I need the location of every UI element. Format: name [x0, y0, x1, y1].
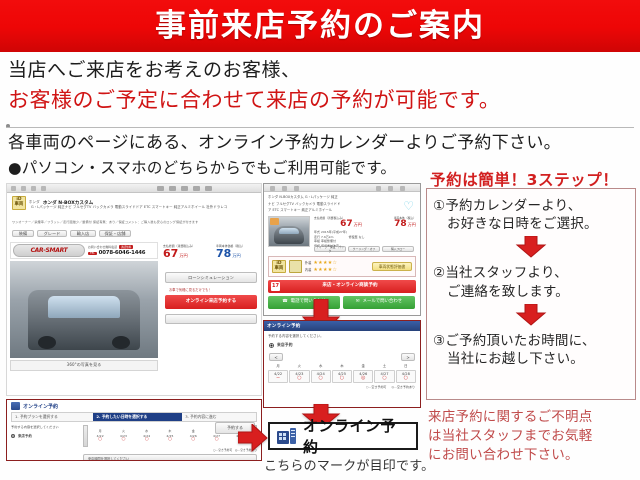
arrow-right-to-badge: [238, 424, 268, 452]
car-wheel-front: [38, 336, 56, 349]
pc-loan-simulation-label: ローンシミュレーション: [188, 275, 234, 281]
pc-photo-button-label: 360°の写真を見る: [67, 362, 102, 368]
pc-car-photo: [10, 261, 158, 358]
calendar-day-cell-4[interactable]: 4/26 ◎: [353, 370, 373, 383]
id-badge-icon: iD車両: [12, 196, 26, 210]
sp-chip-row: ディーラー保証・パック クーリング・オフ 購入フロー: [314, 246, 414, 252]
sp-price-area: 支払総額（消費税込み） 67 万円 車両本体（税込） 78 万円 年式: [314, 216, 416, 248]
calendar-weekday-4: 金: [353, 364, 373, 369]
step-3-line-2: 当社にお越し下さい。: [433, 350, 629, 368]
mobile-calendar-panel: オンライン予約 予約する内容を選択してください。 来店予約 < > 月 火 水 …: [263, 320, 421, 408]
three-steps-box: ①予約カレンダーより、 お好きな日時をご選択。 ②当社スタッフより、 ご連絡を致…: [426, 188, 636, 400]
calendar-radio-row[interactable]: 来店予約: [269, 342, 420, 348]
sp-chrome-icon-4: [376, 186, 381, 191]
step-2-text-1: 当社スタッフより、: [445, 265, 568, 281]
sp-spec-label-1b: 修復歴: [349, 235, 358, 239]
sp-car-window-shape: [279, 228, 298, 234]
sp-rating-outside-stars: ★★★★☆: [313, 260, 337, 266]
pc-secondary-button[interactable]: [165, 314, 257, 324]
sp-spec-value-1b: なし: [359, 235, 365, 239]
pc-phone-label: お問い合わせ無料電話: [88, 245, 117, 249]
sp-price-sub-value: 78: [394, 220, 407, 229]
page-title: 事前来店予約のご案内: [155, 11, 485, 42]
pc-price-sub-value: 78: [216, 248, 231, 259]
calendar-instruction: 予約する内容を選択してください。: [268, 334, 420, 339]
sp-rating-report-label: 車両状態評価書: [379, 264, 406, 270]
wizard-left-col: 予約する内容を選択してください 来店予約: [11, 425, 79, 461]
chrome-icon-4: [41, 186, 46, 191]
wizard-time-select[interactable]: 来店時間を選択してください: [83, 454, 257, 461]
sp-mail-label: メールで問い合わせ: [363, 300, 403, 304]
sp-rating-inside-stars: ★★★★☆: [313, 267, 337, 273]
sp-chrome-icon-1: [270, 186, 275, 191]
step-arrow-2: [433, 304, 629, 330]
intro-line-1: 当店へご来店をお考えのお客様、: [8, 58, 632, 84]
pc-reserve-lead: お車で気軽に見るだけでも！: [169, 288, 212, 293]
pc-price-sub-unit: 万円: [232, 253, 240, 259]
radio-selected-icon[interactable]: [269, 343, 274, 348]
three-step-caption: 予約は簡単！3ステップ！: [430, 168, 619, 190]
dealer-logo: CAR-SMART: [13, 244, 85, 257]
contact-note: 来店予約に関するご不明点 は当社スタッフまでお気軽 にお問い合わせ下さい。: [428, 408, 638, 465]
reservation-guide-page: 事前来店予約のご案内 当店へご来店をお考えのお客様、 お客様のご予定に合わせて来…: [0, 0, 640, 480]
step-1-line-2: お好きな日時をご選択。: [433, 215, 629, 233]
sp-car-title: ホンダ N-BOXカスタム G・Lパッケージ 純正: [268, 195, 380, 200]
calendar-day-cell-5[interactable]: 4/27 ○: [374, 370, 394, 383]
step-3-number: ③: [433, 333, 445, 349]
sp-price-main-value: 67: [340, 220, 353, 229]
sp-price-sub-block: 車両本体（税込） 78 万円: [368, 216, 416, 229]
calendar-avail-1: ○: [290, 376, 308, 381]
calendar-weekday-6: 日: [396, 364, 416, 369]
divider-rule: [6, 127, 634, 128]
sp-car-subtitle-2: ア ETC スマートキー 純正アルミホイール: [268, 208, 380, 213]
step-2-number: ②: [433, 265, 445, 281]
calendar-avail-5: ○: [375, 376, 393, 381]
sp-spec-value-0: 2015年(平成27年): [321, 230, 347, 234]
calendar-day-cell-2[interactable]: 4/24 ○: [311, 370, 331, 383]
calendar-nav-row: < >: [269, 353, 415, 361]
pc-listing-screenshot: iD車両 ホンダ ホンダ N-BOXカスタム G・Lパッケージ 純正ナビ フルセ…: [6, 183, 262, 396]
calendar-day-cell-0[interactable]: 4/22 −: [268, 370, 288, 383]
mail-icon: ✉: [356, 300, 360, 304]
sp-mail-button[interactable]: ✉ メールで問い合わせ: [343, 296, 415, 309]
step-1-text-1: 予約カレンダーより、: [445, 198, 581, 214]
calendar-icon: 17: [271, 282, 280, 291]
wizard-avail-4[interactable]: ○: [182, 438, 204, 443]
calendar-weekday-3: 木: [332, 364, 352, 369]
inspection-seal-icon: [289, 260, 302, 273]
calendar-weekday-0: 月: [268, 364, 288, 369]
wizard-radio-row[interactable]: 来店予約: [11, 434, 79, 439]
calendar-avail-4: ◎: [354, 376, 372, 381]
sp-price-sub-unit: 万円: [408, 222, 416, 228]
calendar-legend-1: ○…空き予約可: [366, 385, 387, 390]
wizard-radio-label: 来店予約: [18, 434, 32, 439]
pc-tab-2[interactable]: 輸入店: [70, 230, 96, 237]
chrome-icon-6: [169, 186, 176, 191]
wizard-availability-row: ○ ○ ○ ○ ○ ○ ○: [89, 438, 251, 443]
sp-chip-0[interactable]: ディーラー保証・パック: [314, 246, 346, 252]
step-2-line-2: ご連絡を致します。: [433, 283, 629, 301]
sp-chip-1[interactable]: クーリング・オフ: [348, 246, 380, 252]
sp-spec-value-2: 車検整備付: [321, 239, 336, 243]
pc-photo-button[interactable]: 360°の写真を見る: [10, 360, 158, 371]
sp-price-main-unit: 万円: [354, 222, 362, 228]
sp-spec-label-0: 年式: [314, 230, 320, 234]
wizard-avail-3[interactable]: ○: [159, 438, 181, 443]
online-reservation-badge: オンライン予約: [268, 422, 418, 450]
page-header-banner: 事前来店予約のご案内: [0, 0, 640, 52]
calendar-avail-3: ○: [333, 376, 351, 381]
step-3-text-1: ご予約頂いたお時間に、: [445, 333, 595, 349]
phone-icon: ☎: [282, 300, 287, 304]
sp-rating-inside-label: 内装: [305, 268, 312, 273]
sp-chrome-icon-6: [400, 186, 405, 191]
sp-contact-row: ☎ 電話で問い合わせ ✉ メールで問い合わせ: [268, 296, 415, 309]
sp-spec-label-2: 車検: [314, 239, 320, 243]
wizard-prev-button[interactable]: [83, 425, 88, 447]
calendar-date-row: 4/22 − 4/23 ○ 4/24 ○ 4/25 ○ 4/26 ◎ 4/27 …: [268, 370, 416, 383]
sp-car-thumbnail: [268, 216, 310, 247]
pc-phone-icon: TEL: [88, 252, 97, 255]
wizard-radio-selected-icon[interactable]: [11, 434, 15, 438]
sp-reserve-button[interactable]: 17 来店・オンライン商談予約: [268, 280, 416, 293]
pc-wizard-panel: オンライン予約 1. 予約プランを選択する 2. 予約したい日時を選択する 3.…: [6, 399, 262, 461]
sp-car-subtitle-1: ナビ フルセグTV バックカメラ 電動スライドド: [268, 202, 380, 207]
wizard-step-breadcrumb: 1. 予約プランを選択する 2. 予約したい日時を選択する 3. 予約内容に進む: [11, 412, 257, 422]
pc-spec-note: ワンオーナー／禁煙車／フラット／走行距離少／整備付 保証有無：あり／保証コメント…: [12, 220, 259, 225]
calendar-prev-button[interactable]: <: [269, 353, 283, 361]
sp-chrome-icon-5: [388, 186, 393, 191]
pc-car-subtitle: G・Lパッケージ 純正ナビ フルセグTV バックカメラ 電動スライドドア ETC…: [31, 205, 259, 210]
chrome-icon-2: [21, 186, 26, 191]
calendar-weekday-1: 火: [289, 364, 309, 369]
online-reservation-badge-label: オンライン予約: [303, 415, 409, 457]
car-wheel-rear: [112, 336, 130, 349]
pc-tab-3[interactable]: 保証・店舗: [99, 230, 131, 237]
car-window-shape: [48, 296, 120, 318]
wizard-avail-0[interactable]: ○: [89, 438, 111, 443]
chrome-icon-7: [181, 186, 188, 191]
pc-price-main-block: 支払総額（消費税込み） 67 万円: [163, 244, 211, 259]
contact-note-line-2: は当社スタッフまでお気軽: [428, 427, 638, 446]
chrome-icon-3: [31, 186, 36, 191]
browser-chrome-bar: [7, 184, 261, 193]
pc-online-reserve-label: オンライン来店予約する: [186, 300, 237, 305]
pc-phone-free-badge: 通話無料: [119, 245, 133, 249]
wizard-step-0[interactable]: 1. 予約プランを選択する: [12, 413, 93, 421]
online-reservation-icon: [11, 402, 20, 410]
chrome-icon-5: [157, 186, 164, 191]
wizard-avail-1[interactable]: ○: [112, 438, 134, 443]
calendar-avail-0: −: [269, 376, 287, 381]
pc-tab-row: 装備 グレード 輸入店 保証・店舗: [12, 230, 131, 237]
online-reservation-icon: [277, 428, 297, 445]
wizard-instruction: 予約する内容を選択してください: [11, 425, 79, 430]
sp-rating-outside-label: 外装: [305, 261, 312, 266]
sp-chrome-icon-2: [282, 186, 287, 191]
calendar-avail-2: ○: [312, 376, 330, 381]
contact-note-line-3: にお問い合わせ下さい。: [428, 446, 638, 465]
sp-rating-panel: iD車両 外装 ★★★★☆ 内装 ★★★★☆ 車両状態評価書: [268, 256, 416, 277]
sp-car-body-shape: [274, 226, 304, 244]
calendar-panel-title: オンライン予約: [264, 321, 420, 331]
wizard-title-row: オンライン予約: [7, 400, 261, 410]
calendar-legend-2: ◎…空き予約あり: [391, 385, 415, 390]
step-1-line-1: ①予約カレンダーより、: [433, 197, 629, 215]
pc-dealer-banner: CAR-SMART お問い合わせ無料電話 通話無料 TEL 0078-6046-…: [10, 242, 158, 259]
pc-online-reserve-button[interactable]: オンライン来店予約する: [165, 295, 257, 309]
favorite-heart-icon[interactable]: ♡: [403, 199, 414, 213]
step-arrow-1: [433, 236, 629, 262]
sp-chrome-icon-3: [294, 186, 299, 191]
intro-line-2-highlight: お客様のご予定に合わせて来店の予約が可能です。: [8, 86, 632, 115]
chrome-icon-9: [205, 186, 212, 191]
wizard-avail-2[interactable]: ○: [136, 438, 158, 443]
online-reservation-badge-caption: こちらのマークが目印です。: [264, 455, 434, 474]
pc-tab-1[interactable]: グレード: [37, 230, 67, 237]
sp-chrome-bar: [264, 184, 420, 192]
wizard-avail-5[interactable]: ○: [205, 438, 227, 443]
pc-price-main-unit: 万円: [179, 253, 187, 259]
pc-price-sub-block: 車両本体価格（税込） 78 万円: [216, 244, 262, 259]
calendar-radio-label: 来店予約: [277, 342, 293, 348]
calendar-day-cell-3[interactable]: 4/25 ○: [332, 370, 352, 383]
car-body-shape: [28, 290, 140, 350]
wizard-title: オンライン予約: [23, 403, 58, 410]
step-2-line-1: ②当社スタッフより、: [433, 264, 629, 282]
sp-chip-2[interactable]: 購入フロー: [382, 246, 414, 252]
calendar-day-cell-6[interactable]: 4/28 ○: [396, 370, 416, 383]
calendar-avail-6: ○: [397, 376, 415, 381]
sp-id-badge-icon: iD車両: [272, 260, 286, 274]
pc-phone-number: 0078-6046-1446: [99, 250, 146, 256]
wizard-legend: ○…空き予約可 ◎…空き予約あり: [83, 448, 257, 452]
step-1-number: ①: [433, 198, 445, 214]
wizard-step-1[interactable]: 2. 予約したい日時を選択する: [93, 413, 182, 421]
pc-tab-0[interactable]: 装備: [12, 230, 34, 237]
chrome-icon-8: [193, 186, 200, 191]
pc-loan-simulation-button[interactable]: ローンシミュレーション: [165, 272, 257, 283]
sp-reserve-label: 来店・オンライン商談予約: [284, 284, 416, 289]
calendar-weekday-5: 土: [374, 364, 394, 369]
calendar-next-button[interactable]: >: [401, 353, 415, 361]
sp-listing-screenshot: ホンダ N-BOXカスタム G・Lパッケージ 純正 ナビ フルセグTV バックカ…: [263, 183, 421, 316]
wizard-step-2[interactable]: 3. 予約内容に進む: [182, 413, 256, 421]
sp-price-main-block: 支払総額（消費税込み） 67 万円: [314, 216, 362, 229]
chrome-icon-1: [11, 186, 16, 191]
contact-note-line-1: 来店予約に関するご不明点: [428, 408, 638, 427]
intro-block: 当店へご来店をお考えのお客様、 お客様のご予定に合わせて来店の予約が可能です。: [8, 58, 632, 115]
calendar-legend-row: ○…空き予約可 ◎…空き予約あり: [264, 385, 415, 390]
wizard-time-select-label: 来店時間を選択してください: [88, 456, 129, 461]
sp-photo-count-badge: [270, 218, 279, 225]
intro-line-3: 各車両のページにある、オンライン予約カレンダーよりご予約下さい。: [8, 132, 632, 156]
step-3-line-1: ③ご予約頂いたお時間に、: [433, 332, 629, 350]
calendar-weekday-row: 月 火 水 木 金 土 日: [268, 364, 416, 369]
pc-price-main-value: 67: [163, 248, 178, 259]
calendar-day-cell-1[interactable]: 4/23 ○: [289, 370, 309, 383]
sp-rating-report-button[interactable]: 車両状態評価書: [372, 262, 412, 271]
calendar-weekday-2: 水: [311, 364, 331, 369]
